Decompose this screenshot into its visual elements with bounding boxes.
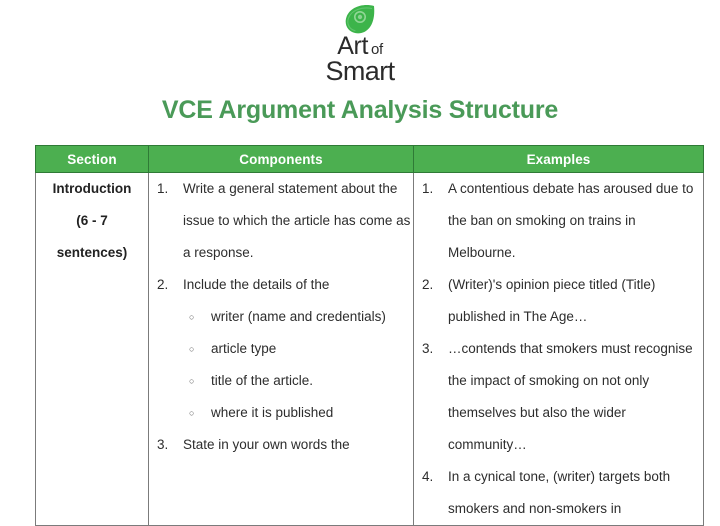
section-label-line-1: Introduction [36, 173, 148, 205]
section-label-line-3: sentences) [36, 237, 148, 269]
components-list-item: Include the details of the writer (name … [149, 269, 413, 429]
column-header-components: Components [149, 146, 414, 173]
examples-list: A contentious debate has aroused due to … [414, 173, 703, 525]
components-sub-item: where it is published [183, 397, 413, 429]
page-title: VCE Argument Analysis Structure [0, 96, 720, 125]
components-item-text: Include the details of the [183, 277, 329, 292]
examples-list-item: A contentious debate has aroused due to … [414, 173, 703, 269]
components-list-item: State in your own words the [149, 429, 413, 461]
components-item-text: Write a general statement about the issu… [183, 181, 410, 260]
components-list: Write a general statement about the issu… [149, 173, 413, 461]
brand-logo: Art of Smart [0, 0, 720, 84]
cell-examples: A contentious debate has aroused due to … [414, 173, 704, 526]
column-header-section: Section [36, 146, 149, 173]
components-sub-list: writer (name and credentials) article ty… [183, 301, 413, 429]
components-list-item: Write a general statement about the issu… [149, 173, 413, 269]
components-sub-item: title of the article. [183, 365, 413, 397]
components-item-text: State in your own words the [183, 437, 350, 452]
logo-wordmark: Art of Smart [325, 35, 394, 84]
leaf-icon [343, 4, 377, 34]
column-header-examples: Examples [414, 146, 704, 173]
logo-text-of: of [371, 43, 383, 57]
structure-table-container: Section Components Examples Introduction… [35, 145, 703, 526]
components-sub-item: article type [183, 333, 413, 365]
structure-table: Section Components Examples Introduction… [35, 145, 704, 526]
table-row: Introduction (6 - 7 sentences) Write a g… [36, 173, 704, 526]
logo-text-art: Art [337, 35, 368, 58]
examples-list-item: (Writer)'s opinion piece titled (Title) … [414, 269, 703, 333]
examples-list-item: In a cynical tone, (writer) targets both… [414, 461, 703, 525]
table-header-row: Section Components Examples [36, 146, 704, 173]
section-label-line-2: (6 - 7 [36, 205, 148, 237]
logo-line-art-of: Art of [337, 35, 382, 58]
cell-components: Write a general statement about the issu… [149, 173, 414, 526]
logo-text-smart: Smart [325, 59, 394, 84]
cell-section-introduction: Introduction (6 - 7 sentences) [36, 173, 149, 526]
examples-list-item: …contends that smokers must recognise th… [414, 333, 703, 461]
components-sub-item: writer (name and credentials) [183, 301, 413, 333]
